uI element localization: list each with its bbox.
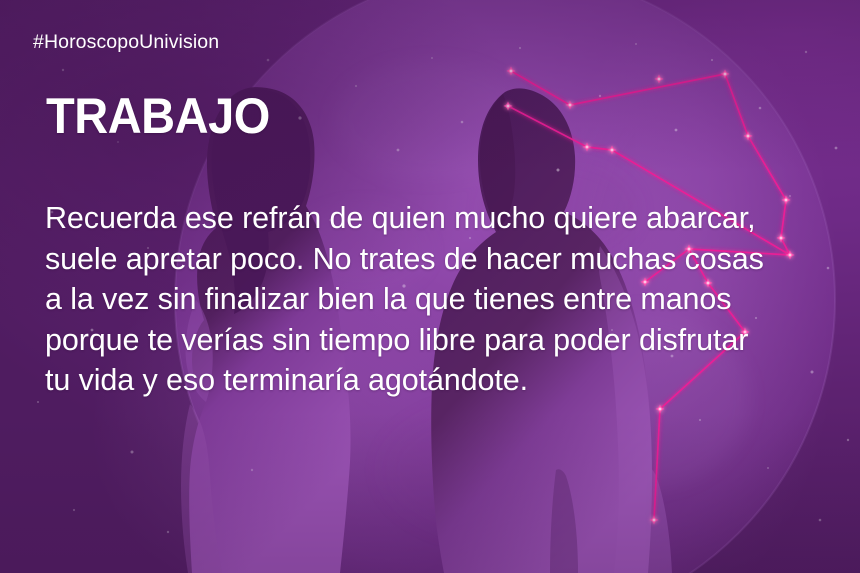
horoscope-body-text: Recuerda ese refrán de quien mucho quier… bbox=[45, 198, 775, 401]
page-title: TRABAJO bbox=[46, 90, 270, 142]
horoscope-card: #HoroscopoUnivision TRABAJO Recuerda ese… bbox=[0, 0, 860, 573]
hashtag-label: #HoroscopoUnivision bbox=[33, 31, 219, 54]
